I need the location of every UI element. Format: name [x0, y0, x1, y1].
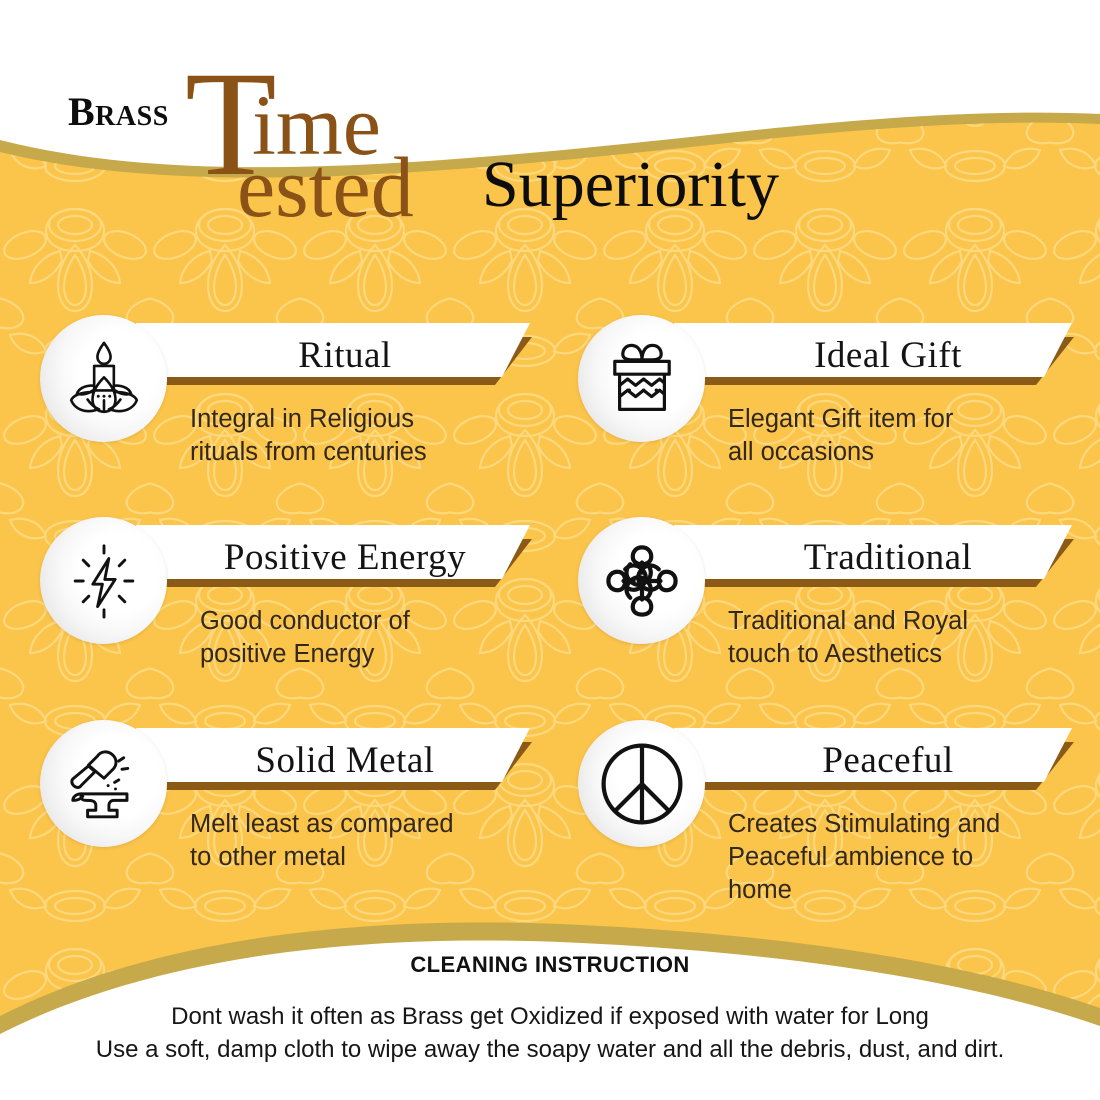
card-description: Integral in Religious rituals from centu…: [190, 403, 550, 469]
candle-lotus-icon: [40, 315, 167, 442]
card-title: Positive Energy: [190, 536, 500, 579]
feature-card-ritual[interactable]: Ritual Integral in Religious rituals fro…: [40, 315, 560, 505]
card-description: Elegant Gift item for all occasions: [728, 403, 1088, 469]
cleaning-instruction-section: CLEANING INSTRUCTION Dont wash it often …: [0, 952, 1100, 1066]
feature-card-ideal-gift[interactable]: Ideal Gift Elegant Gift item for all occ…: [578, 315, 1088, 505]
card-title: Peaceful: [738, 739, 1038, 782]
lightning-bolt-icon: [40, 517, 167, 644]
card-title: Ideal Gift: [738, 334, 1038, 377]
feature-card-solid-metal[interactable]: Solid Metal Melt least as compared to ot…: [40, 720, 560, 920]
feature-card-grid: Ritual Integral in Religious rituals fro…: [0, 0, 1100, 1100]
hammer-anvil-icon: [40, 720, 167, 847]
cleaning-instruction-heading: CLEANING INSTRUCTION: [0, 952, 1100, 978]
card-title: Ritual: [200, 334, 490, 377]
feature-card-traditional[interactable]: Traditional Traditional and Royal touch …: [578, 517, 1088, 707]
endless-knot-icon: [578, 517, 705, 644]
feature-card-peaceful[interactable]: Peaceful Creates Stimulating and Peacefu…: [578, 720, 1088, 935]
peace-sign-icon: [578, 720, 705, 847]
card-description: Traditional and Royal touch to Aesthetic…: [728, 605, 1098, 671]
gift-box-icon: [578, 315, 705, 442]
card-description: Creates Stimulating and Peaceful ambienc…: [728, 808, 1098, 907]
card-title: Traditional: [738, 536, 1038, 579]
cleaning-instruction-body: Dont wash it often as Brass get Oxidized…: [0, 1000, 1100, 1066]
infographic-canvas: Brass T ime ested Superiority Ritual Int…: [0, 0, 1100, 1100]
feature-card-positive-energy[interactable]: Positive Energy Good conductor of positi…: [40, 517, 560, 707]
card-description: Melt least as compared to other metal: [190, 808, 570, 874]
card-description: Good conductor of positive Energy: [200, 605, 560, 671]
card-title: Solid Metal: [200, 739, 490, 782]
